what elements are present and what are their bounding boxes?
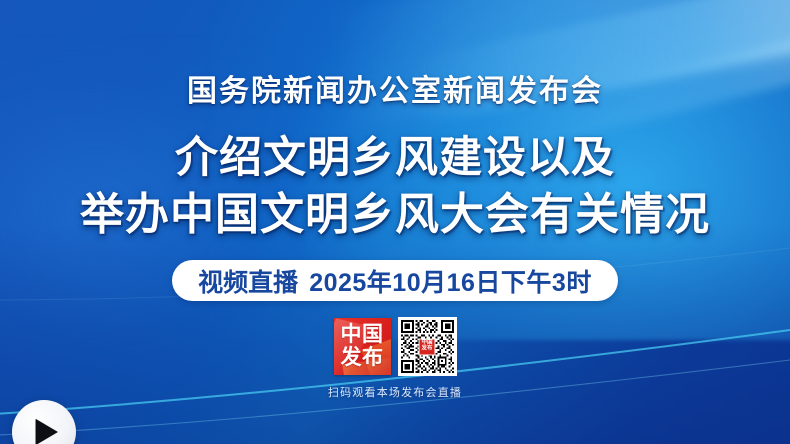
qr-center-line-2: 发布 <box>421 347 432 353</box>
qr-code-center-logo: 中国 发布 <box>419 338 436 355</box>
play-icon <box>36 419 58 444</box>
qr-code[interactable]: 中国 发布 <box>398 317 457 376</box>
live-badge[interactable]: 视频直播 2025年10月16日下午3时 <box>172 260 618 301</box>
live-stream-poster: 国务院新闻办公室新闻发布会 介绍文明乡风建设以及 举办中国文明乡风大会有关情况 … <box>0 0 790 444</box>
kicker-title: 国务院新闻办公室新闻发布会 <box>187 66 603 110</box>
live-badge-datetime: 2025年10月16日下午3时 <box>309 263 592 299</box>
headline-line-1: 介绍文明乡风建设以及 <box>80 134 710 183</box>
brand-logo-line-1: 中国 <box>341 324 384 346</box>
headline-line-2: 举办中国文明乡风大会有关情况 <box>80 190 710 240</box>
brand-logo: 中国 发布 <box>334 318 391 375</box>
page-title: 介绍文明乡风建设以及 举办中国文明乡风大会有关情况 <box>80 134 710 240</box>
poster-content: 国务院新闻办公室新闻发布会 介绍文明乡风建设以及 举办中国文明乡风大会有关情况 … <box>0 0 790 444</box>
brand-logo-line-2: 发布 <box>341 347 384 369</box>
scan-caption: 扫码观看本场发布会直播 <box>328 384 462 400</box>
brand-and-qr-group: 中国 发布 <box>334 317 457 376</box>
live-badge-label: 视频直播 <box>198 263 298 299</box>
